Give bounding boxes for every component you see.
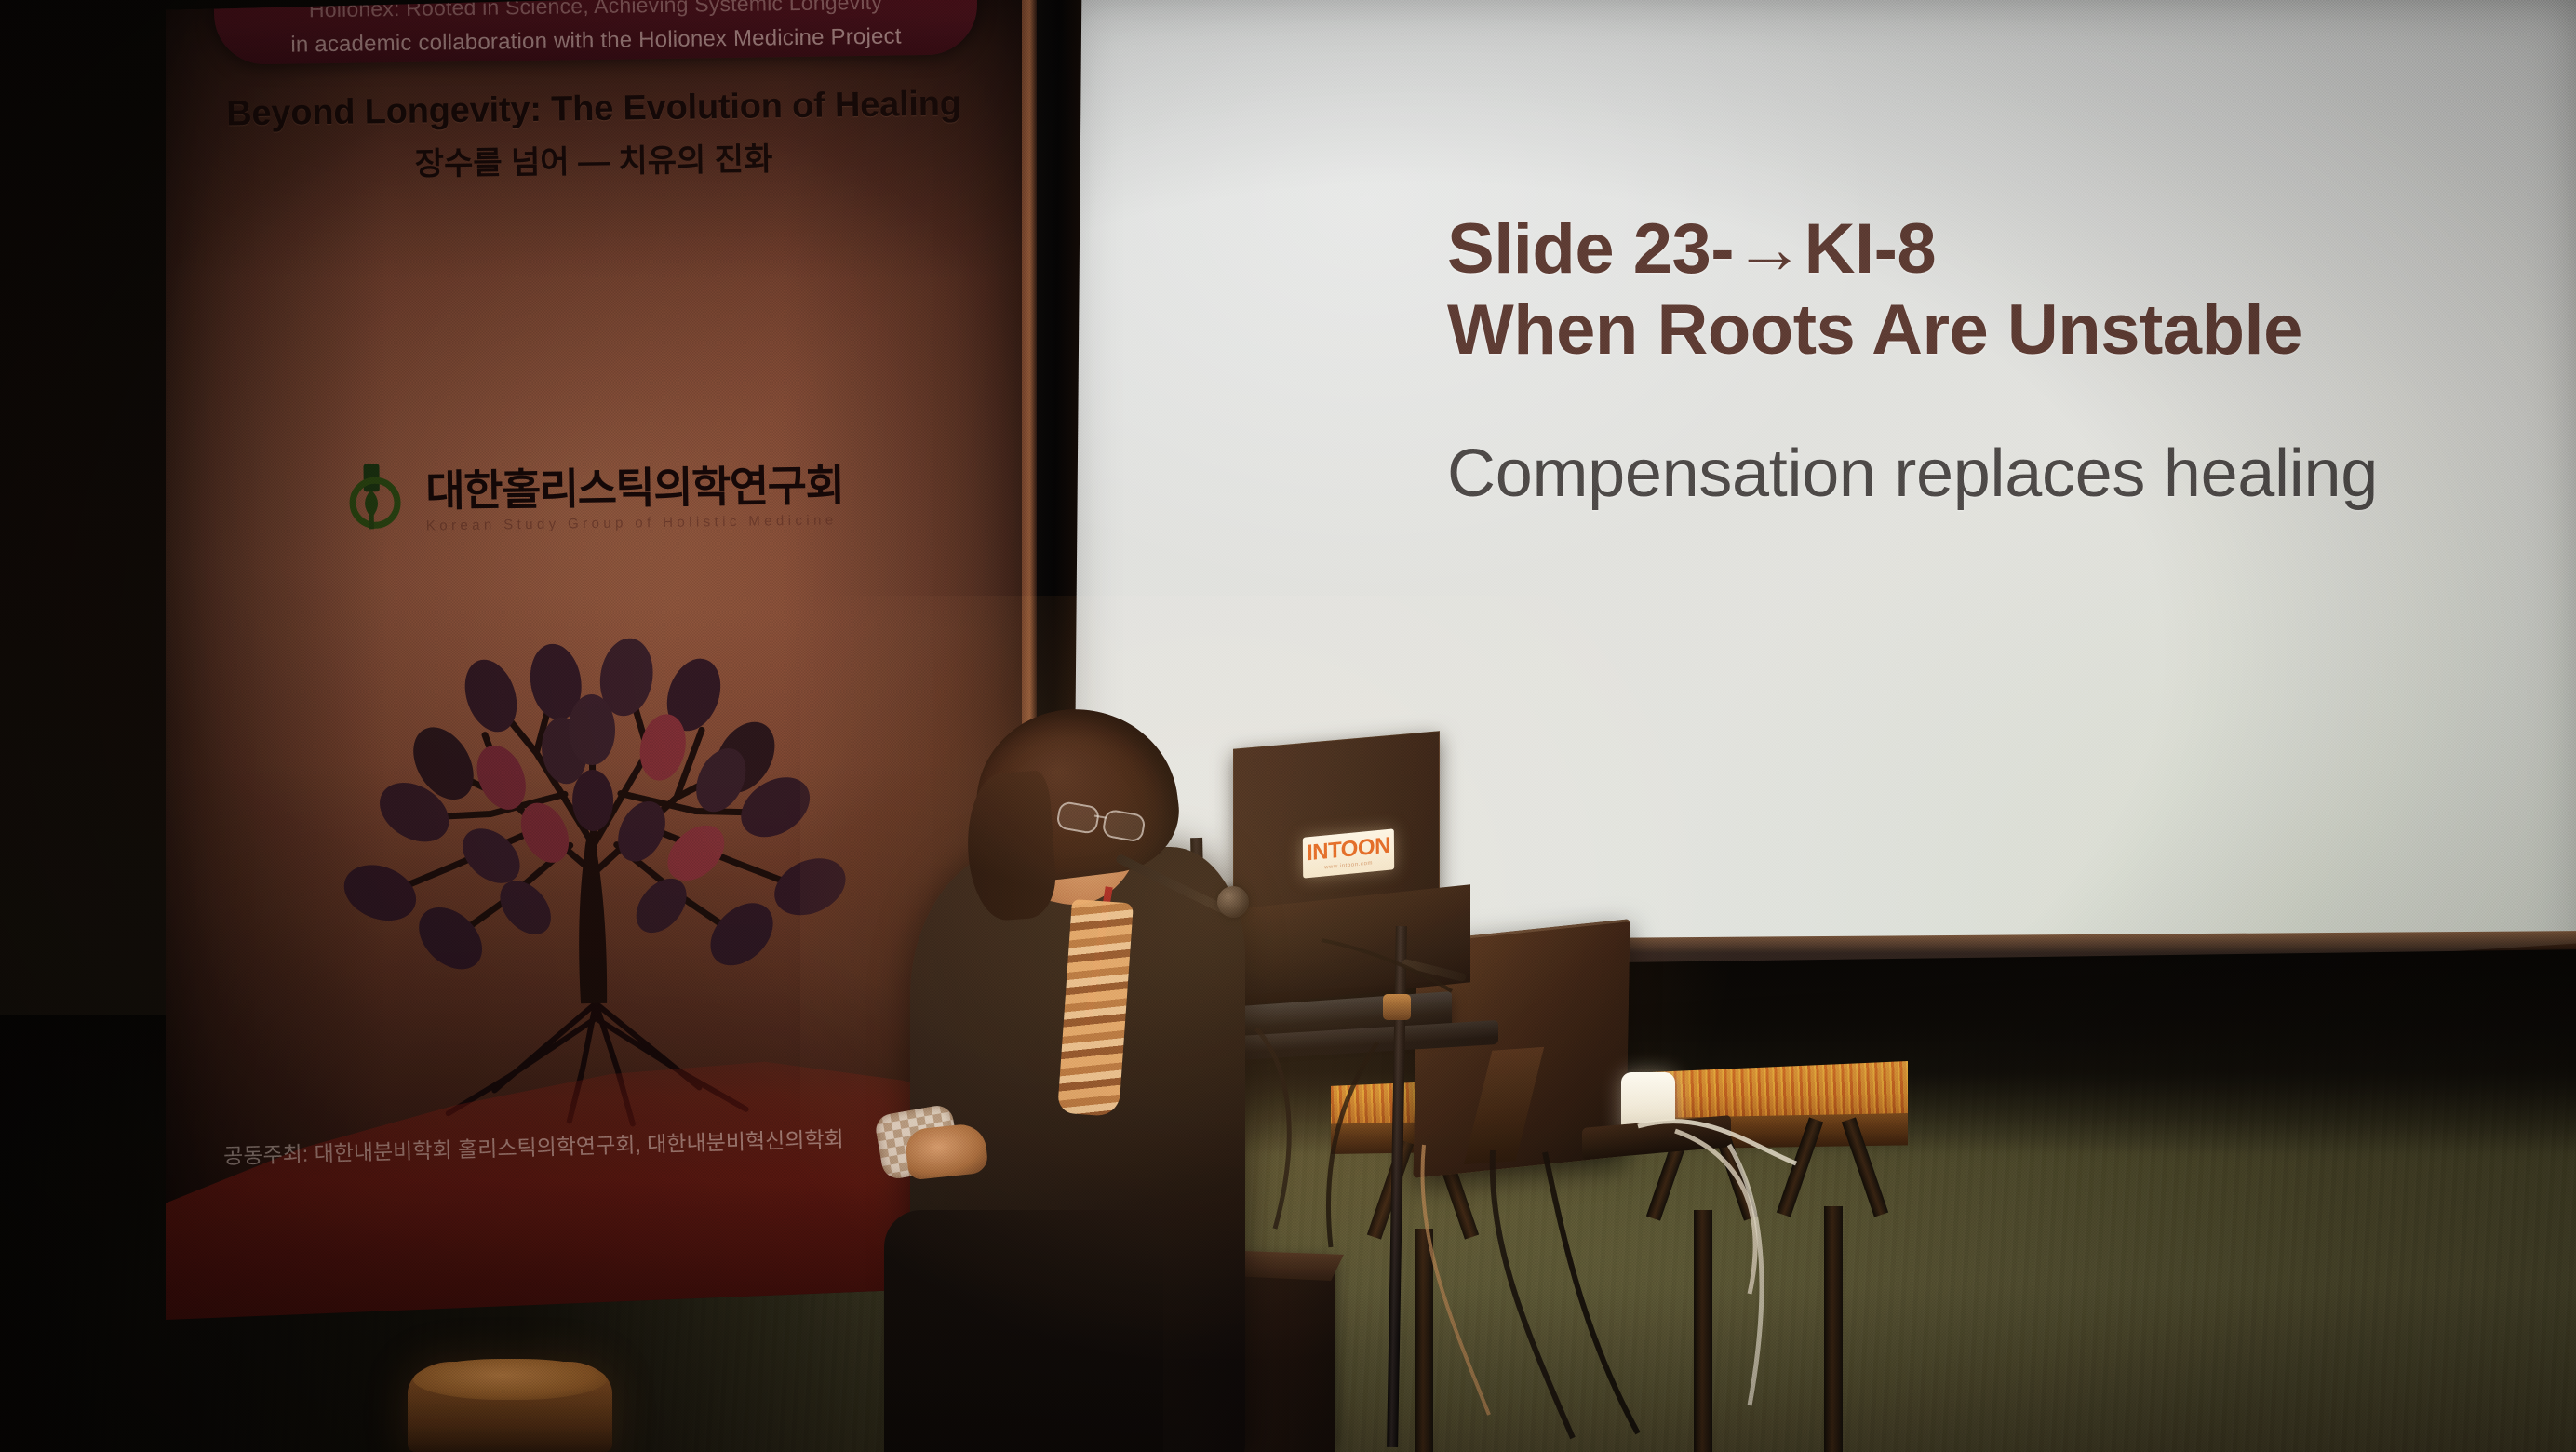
screenshot-root: Slide 23-→KI-8 When Roots Are Unstable C… — [0, 0, 2576, 1452]
intoon-sticker: INTOON www.intoon.com — [1303, 828, 1394, 878]
organization-logo: 대한홀리스틱의학연구회 Korean Study Group of Holist… — [165, 453, 1022, 545]
organization-name-english: Korean Study Group of Holistic Medicine — [426, 512, 838, 533]
intoon-sticker-text: INTOON — [1307, 835, 1390, 866]
tripod-adjust-knob[interactable] — [1383, 994, 1411, 1020]
holistic-medicine-logo-icon — [343, 462, 413, 543]
table-leg-center — [1694, 1210, 1712, 1452]
organization-name-block: 대한홀리스틱의학연구회 Korean Study Group of Holist… — [425, 464, 844, 533]
banner-ribbon-line-2: in academic collaboration with the Holio… — [290, 23, 902, 58]
slide-subheading: Compensation replaces healing — [1447, 437, 2545, 511]
slide-text-block: Slide 23-→KI-8 When Roots Are Unstable C… — [1447, 209, 2545, 511]
presenter-hand — [904, 1123, 988, 1181]
table-leg-left — [1415, 1229, 1433, 1452]
slide-heading-line-2: When Roots Are Unstable — [1447, 290, 2545, 371]
banner-ribbon: Holionex: Rooted in Science, Achieving S… — [213, 0, 977, 65]
slide-heading-line-1: Slide 23-→KI-8 — [1447, 209, 2545, 290]
headset-mic-capsule — [1217, 886, 1249, 918]
presenter — [893, 689, 1284, 1452]
table-leg-right — [1824, 1206, 1843, 1452]
presenter-lower-body — [884, 1210, 1163, 1452]
wooden-stool-top — [413, 1359, 607, 1400]
organization-name-korean: 대한홀리스틱의학연구회 — [425, 464, 844, 512]
